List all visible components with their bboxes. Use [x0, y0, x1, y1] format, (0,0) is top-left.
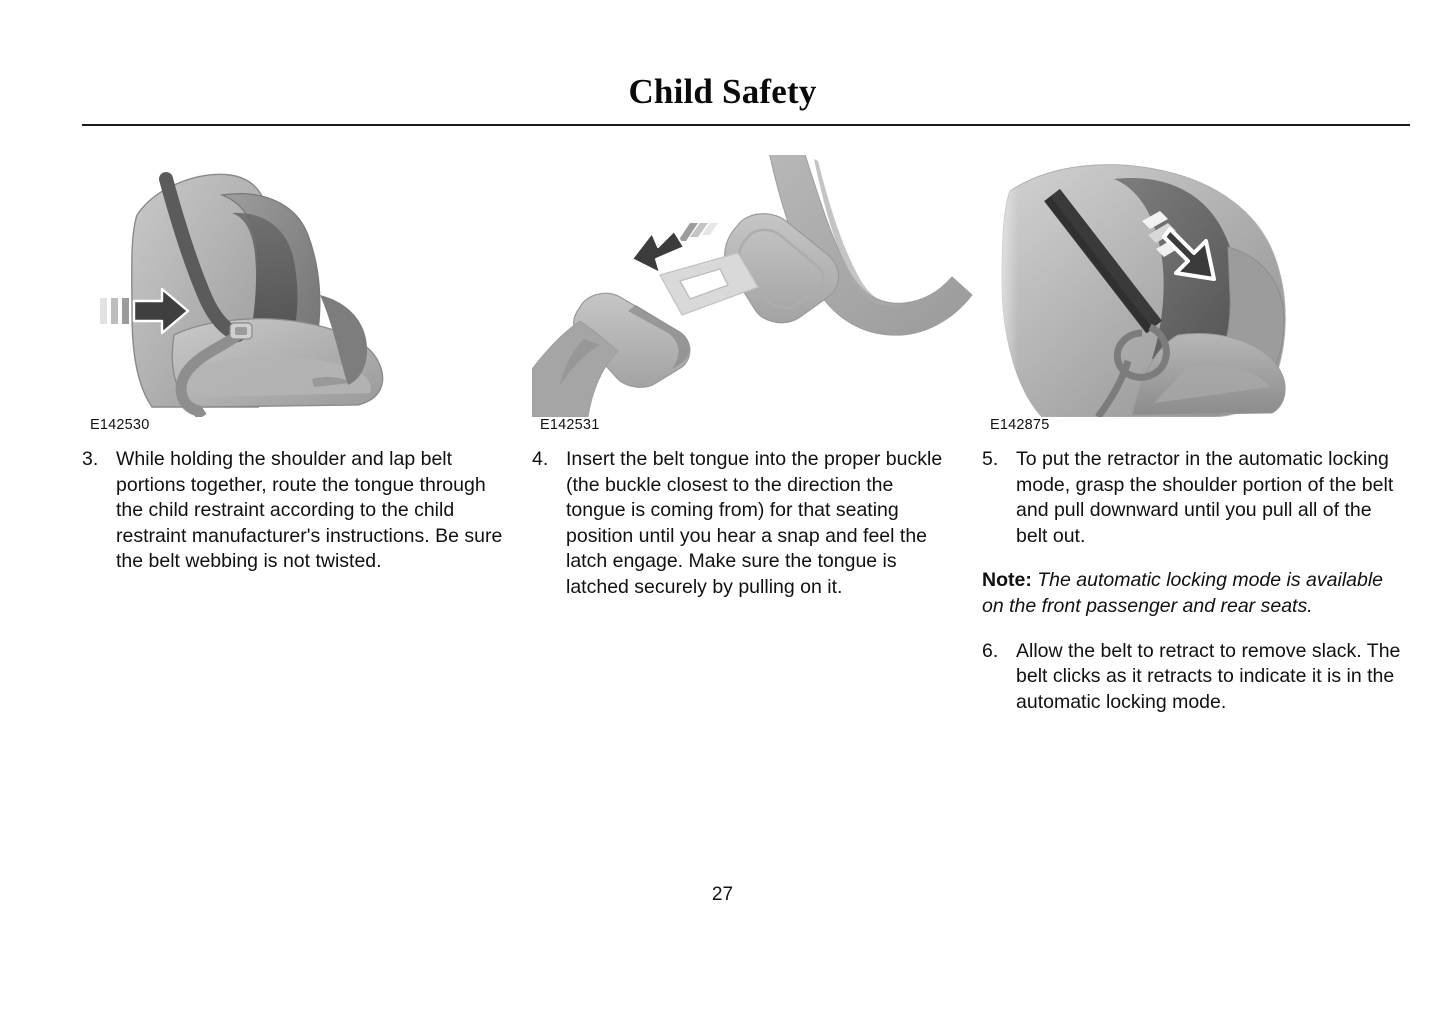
step-number: 5. [982, 447, 1016, 549]
figure-belt-tongue-buckle: E142531 [532, 155, 982, 417]
page-title: Child Safety [0, 72, 1445, 112]
figure-retractor-locking-mode: E142875 [982, 155, 1432, 417]
step-text: Allow the belt to retract to remove slac… [1016, 639, 1407, 716]
figure-child-seat-belt-routing: E142530 [82, 155, 532, 417]
note-label: Note: [982, 569, 1032, 591]
instruction-column-2: E142531 4. Insert the belt tongue into t… [532, 155, 982, 417]
retractor-automatic-locking-mode-illustration [982, 155, 1432, 417]
step-text: To put the retractor in the automatic lo… [1016, 447, 1407, 549]
child-seat-belt-routing-illustration [82, 155, 532, 417]
step-number: 3. [82, 447, 116, 575]
figure-caption: E142530 [90, 417, 149, 433]
instruction-column-1: E142530 3. While holding the shoulder an… [82, 155, 532, 417]
step-list-column-1: 3. While holding the shoulder and lap be… [82, 447, 517, 594]
header-divider [82, 124, 1410, 126]
step-text: Insert the belt tongue into the proper b… [566, 447, 957, 601]
instruction-column-3: E142875 5. To put the retractor in the a… [982, 155, 1432, 417]
note-block: Note: The automatic locking mode is avai… [982, 568, 1407, 619]
figure-caption: E142875 [990, 417, 1049, 433]
page-number: 27 [0, 884, 1445, 906]
step-item: 5. To put the retractor in the automatic… [982, 447, 1407, 549]
step-number: 6. [982, 639, 1016, 716]
step-list-column-3: 5. To put the retractor in the automatic… [982, 447, 1407, 734]
note-text: The automatic locking mode is available … [982, 569, 1383, 617]
step-text: While holding the shoulder and lap belt … [116, 447, 517, 575]
belt-tongue-into-buckle-illustration [532, 155, 982, 417]
step-item: 4. Insert the belt tongue into the prope… [532, 447, 957, 601]
step-list-column-2: 4. Insert the belt tongue into the prope… [532, 447, 957, 620]
content-columns: E142530 3. While holding the shoulder an… [82, 155, 1412, 417]
step-number: 4. [532, 447, 566, 601]
figure-caption: E142531 [540, 417, 599, 433]
step-item: 6. Allow the belt to retract to remove s… [982, 639, 1407, 716]
step-item: 3. While holding the shoulder and lap be… [82, 447, 517, 575]
